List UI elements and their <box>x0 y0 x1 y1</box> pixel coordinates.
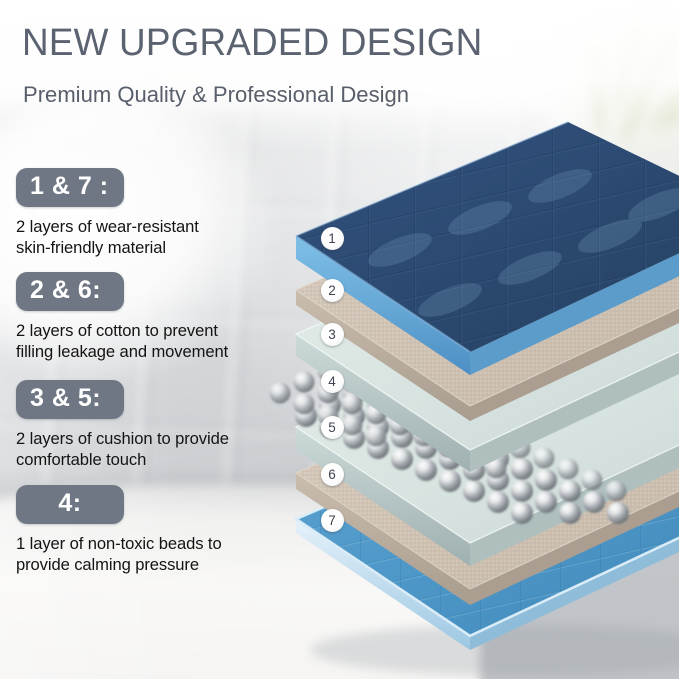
layer-badge-6: 6 <box>321 463 344 486</box>
feature-description-2-and-6: 2 layers of cotton to prevent filling le… <box>16 320 278 362</box>
feature-block-3-and-5: 3 & 5: 2 layers of cushion to provide co… <box>16 380 278 470</box>
product-infographic: 1 2 3 4 5 6 7 NEW UPGRADED DESIGN Premiu… <box>0 0 679 679</box>
feature-pill-3-and-5: 3 & 5: <box>16 380 124 419</box>
page-title: NEW UPGRADED DESIGN <box>22 22 482 65</box>
layer-badge-3: 3 <box>321 323 344 346</box>
layer-badge-4: 4 <box>321 370 344 393</box>
page-subtitle: Premium Quality & Professional Design <box>23 82 409 108</box>
layer-badge-7: 7 <box>321 509 344 532</box>
feature-pill-4: 4: <box>16 485 124 524</box>
feature-block-2-and-6: 2 & 6: 2 layers of cotton to prevent fil… <box>16 272 278 362</box>
feature-description-4: 1 layer of non-toxic beads to provide ca… <box>16 533 278 575</box>
feature-pill-1-and-7: 1 & 7 : <box>16 168 124 207</box>
feature-description-3-and-5: 2 layers of cushion to provide comfortab… <box>16 428 278 470</box>
layer-badge-5: 5 <box>321 416 344 439</box>
feature-description-1-and-7: 2 layers of wear-resistant skin-friendly… <box>16 216 278 258</box>
feature-block-1-and-7: 1 & 7 : 2 layers of wear-resistant skin-… <box>16 168 278 258</box>
layer-badge-2: 2 <box>321 279 344 302</box>
layer-badge-1: 1 <box>321 227 344 250</box>
feature-pill-2-and-6: 2 & 6: <box>16 272 124 311</box>
feature-block-4: 4: 1 layer of non-toxic beads to provide… <box>16 485 278 575</box>
